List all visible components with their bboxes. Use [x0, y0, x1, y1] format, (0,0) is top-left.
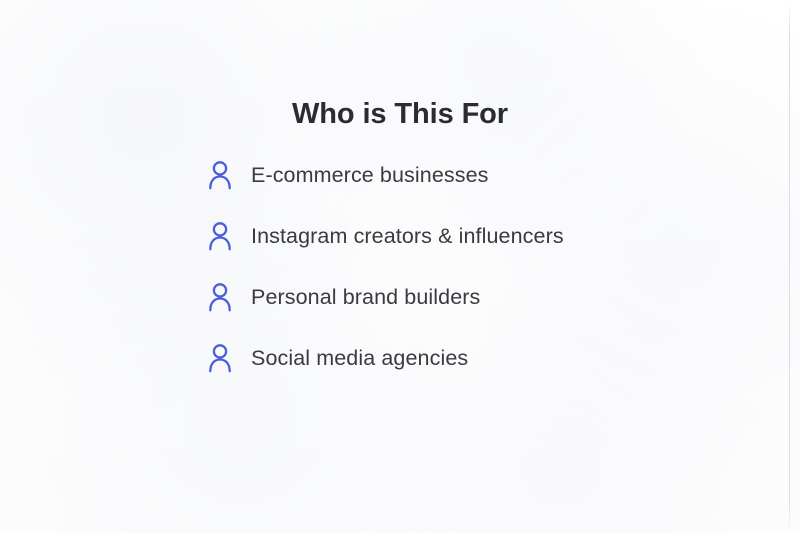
list-item-label: Social media agencies: [251, 343, 468, 373]
list-item-label: Instagram creators & influencers: [251, 221, 564, 251]
list-item: E-commerce businesses: [207, 156, 727, 194]
list-item: Social media agencies: [207, 339, 727, 377]
slide-content: Who is This For E-commerce businesses: [0, 0, 800, 533]
person-icon: [207, 282, 251, 312]
list-item: Personal brand builders: [207, 278, 727, 316]
list-item: Instagram creators & influencers: [207, 217, 727, 255]
audience-list: E-commerce businesses Instagram creators…: [207, 156, 727, 377]
person-icon: [207, 343, 251, 373]
list-item-label: Personal brand builders: [251, 282, 480, 312]
slide-canvas: Who is This For E-commerce businesses: [0, 0, 800, 533]
person-icon: [207, 160, 251, 190]
page-title: Who is This For: [0, 96, 800, 132]
list-item-label: E-commerce businesses: [251, 160, 489, 190]
person-icon: [207, 221, 251, 251]
